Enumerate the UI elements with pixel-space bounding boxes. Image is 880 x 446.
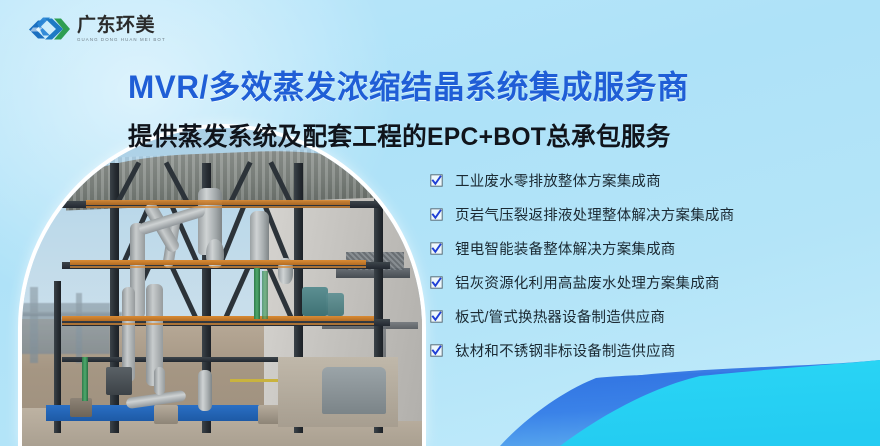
list-item-label: 工业废水零排放整体方案集成商 [455, 170, 661, 191]
list-item[interactable]: 工业废水零排放整体方案集成商 [430, 170, 734, 191]
page-subtitle: 提供蒸发系统及配套工程的EPC+BOT总承包服务 [128, 117, 857, 153]
brand-text: 广东环美 GUANG DONG HUAN MEI BOT [77, 16, 166, 42]
list-item[interactable]: 锂电智能装备整体解决方案集成商 [430, 238, 734, 259]
page-title: MVR/多效蒸发浓缩结晶系统集成服务商 [128, 62, 857, 108]
promo-banner: 广东环美 GUANG DONG HUAN MEI BOT [0, 0, 880, 446]
list-item[interactable]: 页岩气压裂返排液处理整体解决方案集成商 [430, 204, 734, 225]
chevron-arrows-logo-icon [28, 14, 70, 44]
checkbox-checked-icon [430, 276, 443, 289]
service-list: 工业废水零排放整体方案集成商 页岩气压裂返排液处理整体解决方案集成商 锂电智能装… [430, 170, 734, 361]
list-item[interactable]: 板式/管式换热器设备制造供应商 [430, 306, 734, 327]
list-item-label: 板式/管式换热器设备制造供应商 [455, 306, 665, 327]
checkbox-checked-icon [430, 174, 443, 187]
checkbox-checked-icon [430, 310, 443, 323]
list-item-label: 锂电智能装备整体解决方案集成商 [455, 238, 676, 259]
checkbox-checked-icon [430, 242, 443, 255]
list-item[interactable]: 铝灰资源化利用高盐废水处理方案集成商 [430, 272, 734, 293]
checkbox-checked-icon [430, 208, 443, 221]
brand-name-en: GUANG DONG HUAN MEI BOT [77, 38, 166, 43]
brand-name-cn: 广东环美 [77, 16, 166, 35]
headline-block: MVR/多效蒸发浓缩结晶系统集成服务商 提供蒸发系统及配套工程的EPC+BOT总… [128, 62, 868, 153]
wave-decoration [0, 354, 880, 446]
brand-logo[interactable]: 广东环美 GUANG DONG HUAN MEI BOT [28, 14, 166, 44]
list-item-label: 铝灰资源化利用高盐废水处理方案集成商 [455, 272, 720, 293]
list-item-label: 页岩气压裂返排液处理整体解决方案集成商 [455, 204, 734, 225]
